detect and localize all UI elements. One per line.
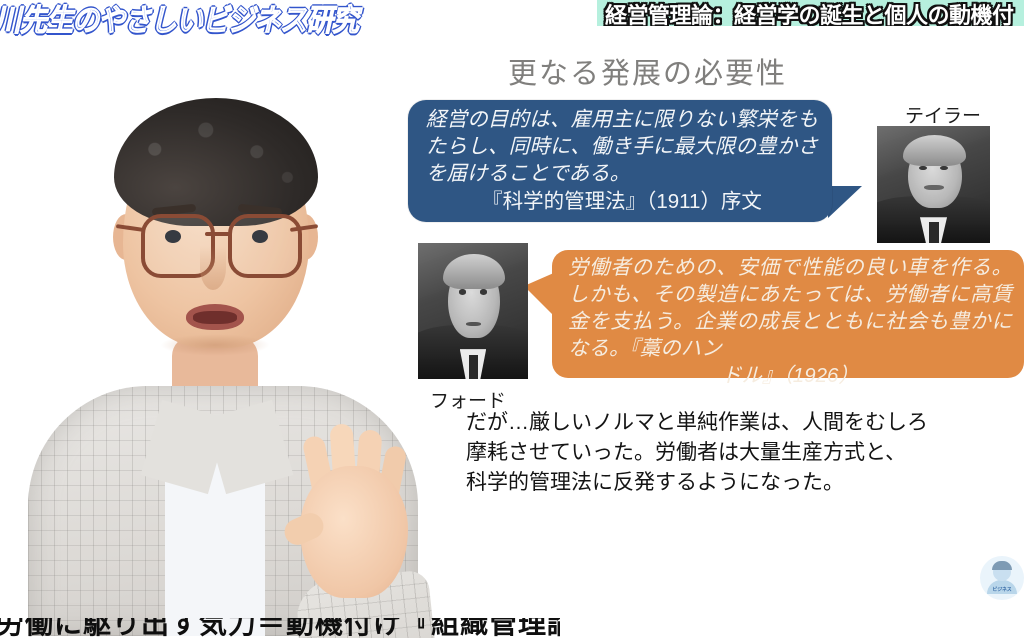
portrait-label-taylor: テイラー [905,101,981,128]
portrait-photo-taylor [877,126,990,243]
topic-banner-label: 経営管理論：経営学の誕生と個人の動機付 [605,0,1014,26]
portrait-tie [469,355,479,379]
glasses-lens-right [228,214,302,278]
presenter-nose [200,246,226,290]
topic-banner: 経営管理論：経営学の誕生と個人の動機付 [597,0,1024,26]
section-heading: 更なる発展の必要性 [508,50,787,92]
bottom-caption-region: 労働に駆り出す気力＝動機付け『組織管理論』 [0,618,560,638]
video-frame: 川先生のやさしいビジネス研究 経営管理論：経営学の誕生と個人の動機付 更なる発展… [0,0,1024,638]
taylor-bubble-tail [828,186,862,218]
presenter-hair-texture [114,98,318,226]
ford-quote-source: ドル』（1926） [568,362,1012,389]
portrait-eye-right [480,289,488,294]
portrait-eye-left [459,289,467,294]
narrative-paragraph: だが…厳しいノルマと単純作業は、人間をむしろ 摩耗させていった。労働者は大量生産… [466,408,1006,498]
channel-logo: ビジネス [980,556,1024,600]
glasses-bridge [205,232,231,236]
taylor-quote-text: 経営の目的は、雇用主に限りない繁栄をもたらし、同時に、働き手に最大限の豊かさを届… [426,106,818,187]
portrait-mouth [466,322,480,326]
show-title: 川先生のやさしいビジネス研究 [0,0,358,40]
presenter-chin-shadow [160,334,270,356]
ford-quote-text: 労働者のための、安価で性能の良い車を作る。しかも、その製造にあたっては、労働者に… [568,254,1012,362]
bottom-caption-text: 労働に駆り出す気力＝動機付け『組織管理論』 [0,618,560,638]
taylor-quote-source: 『科学的管理法』（1911）序文 [426,188,818,215]
ford-quote-bubble: 労働者のための、安価で性能の良い車を作る。しかも、その製造にあたっては、労働者に… [552,250,1024,378]
portrait-tie [929,222,939,243]
taylor-quote-bubble: 経営の目的は、雇用主に限りない繁栄をもたらし、同時に、働き手に最大限の豊かさを届… [408,100,832,222]
channel-logo-label: ビジネス [980,586,1024,593]
presenter-illustration [0,86,430,626]
channel-logo-hair [992,561,1012,570]
portrait-moustache [924,185,943,191]
presenter-mouth-inner [193,311,237,324]
portrait-photo-ford [418,243,528,379]
